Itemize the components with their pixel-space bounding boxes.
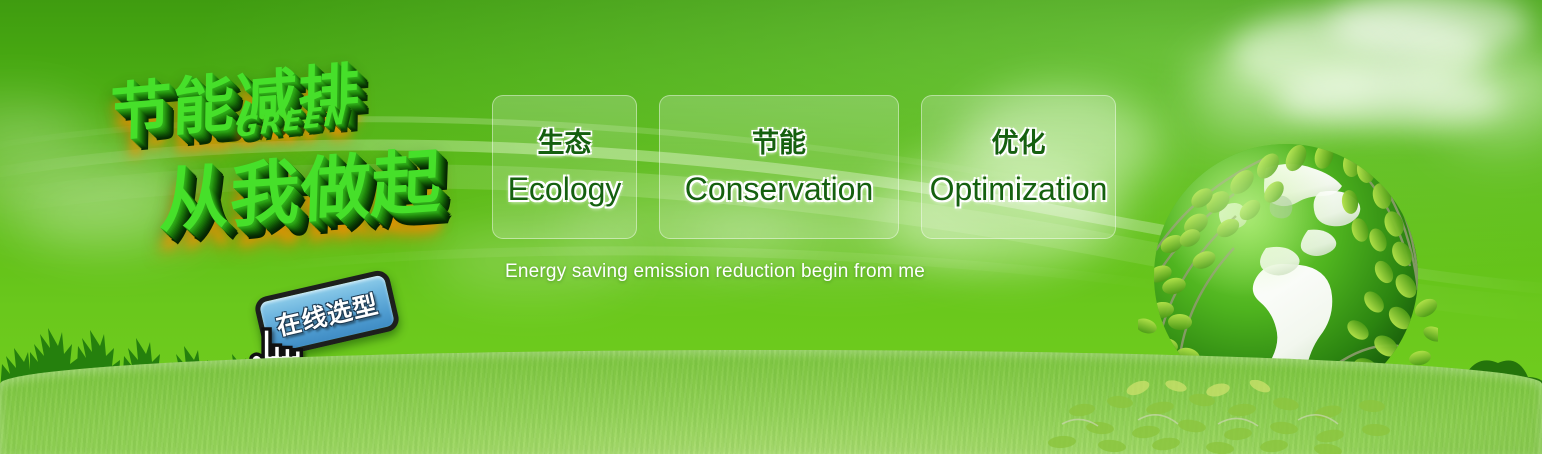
feature-card-ecology[interactable]: 生态 Ecology <box>492 95 637 239</box>
cloud-icon <box>1180 92 1320 144</box>
tagline: Energy saving emission reduction begin f… <box>505 261 925 283</box>
headline-line-1: 节能减排 <box>109 41 361 154</box>
cloud-icon <box>0 140 190 230</box>
feature-card-en-label: Ecology <box>508 173 622 205</box>
feature-card-en-label: Conservation <box>685 173 874 205</box>
cloud-icon <box>1230 8 1490 100</box>
cloud-icon <box>1195 40 1385 118</box>
cloud-icon <box>1400 50 1542 120</box>
headline-3d: 节能减排 GREEN 从我做起 <box>97 25 491 293</box>
feature-card-optimization[interactable]: 优化 Optimization <box>921 95 1116 239</box>
cloud-icon <box>20 180 200 250</box>
headline-line-3: 从我做起 <box>158 125 444 247</box>
cloud-icon <box>1330 0 1530 60</box>
online-selection-button-label: 在线选型 <box>272 285 381 343</box>
eco-promo-banner: 节能减排 GREEN 从我做起 在线选型 生态 Ecology 节能 Conse… <box>0 0 1542 454</box>
feature-card-cn-label: 优化 <box>992 130 1046 157</box>
feature-card-conservation[interactable]: 节能 Conservation <box>659 95 899 239</box>
online-selection-button[interactable]: 在线选型 <box>253 268 401 359</box>
feature-card-en-label: Optimization <box>930 173 1108 205</box>
feature-card-cn-label: 节能 <box>752 130 806 157</box>
headline-line-2: GREEN <box>235 99 349 144</box>
cloud-icon <box>1440 95 1542 153</box>
grass-texture <box>0 350 1542 454</box>
cloud-icon <box>1275 70 1505 130</box>
feature-card-list: 生态 Ecology 节能 Conservation 优化 Optimizati… <box>492 95 1116 239</box>
cloud-icon <box>0 100 90 160</box>
online-selection-button-wrapper[interactable]: 在线选型 <box>253 268 401 359</box>
feature-card-cn-label: 生态 <box>538 130 592 157</box>
